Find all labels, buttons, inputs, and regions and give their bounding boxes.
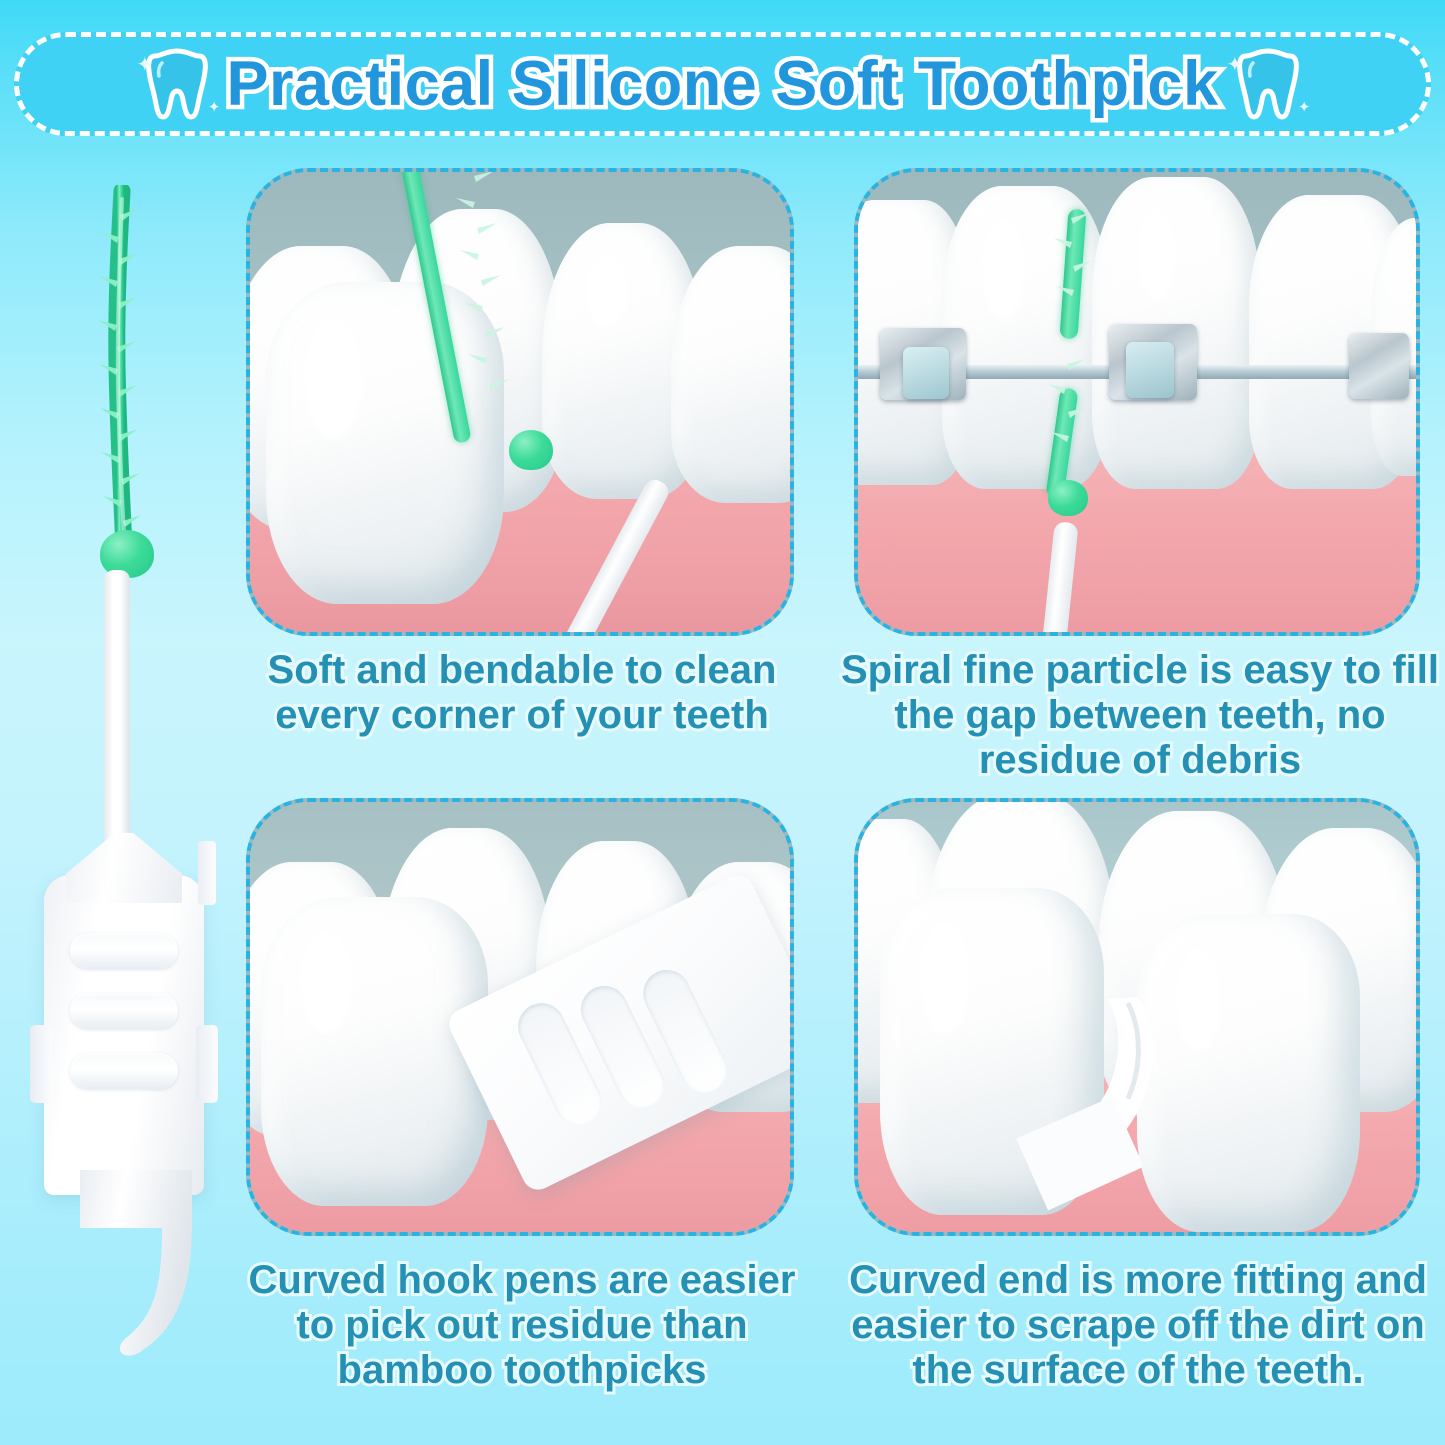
caption-spiral-particle: Spiral fine particle is easy to fill the… — [840, 648, 1440, 782]
caption-curved-end: Curved end is more fitting and easier to… — [834, 1258, 1442, 1392]
handle-notch — [198, 841, 216, 905]
header-banner: ✦ ✦ Practical Silicone Soft Toothpick ✦ … — [14, 32, 1431, 136]
braces-bracket — [1349, 333, 1409, 399]
sparkle-icon: ✦ — [136, 55, 153, 75]
curved-hook-tip — [1014, 991, 1338, 1236]
grip-ridge — [70, 933, 178, 969]
handle-notch — [196, 1025, 218, 1103]
panel-soft-bendable — [246, 168, 794, 636]
handle-notch — [30, 1025, 52, 1103]
caption-soft-bendable: Soft and bendable to clean every corner … — [232, 648, 812, 738]
page-title: Practical Silicone Soft Toothpick — [226, 53, 1218, 116]
braces-bracket — [903, 347, 949, 399]
panel-curved-hook — [246, 798, 794, 1236]
grip-ridge — [70, 993, 178, 1029]
panel-curved-end — [854, 798, 1420, 1236]
product-handle — [44, 875, 204, 1195]
sparkle-icon: ✦ — [1298, 100, 1311, 115]
caption-curved-hook: Curved hook pens are easier to pick out … — [226, 1258, 818, 1392]
silicone-bristle-head — [89, 185, 159, 555]
sparkle-icon: ✦ — [208, 100, 221, 115]
tooth-icon: ✦ ✦ — [146, 47, 208, 121]
tooth-icon: ✦ ✦ — [1237, 47, 1299, 121]
grip-ridge — [70, 1053, 178, 1089]
sparkle-icon: ✦ — [1227, 55, 1244, 75]
panel-spiral-particle — [854, 168, 1420, 636]
product-toothpick — [34, 185, 224, 1355]
curved-hook-end — [74, 1170, 224, 1360]
